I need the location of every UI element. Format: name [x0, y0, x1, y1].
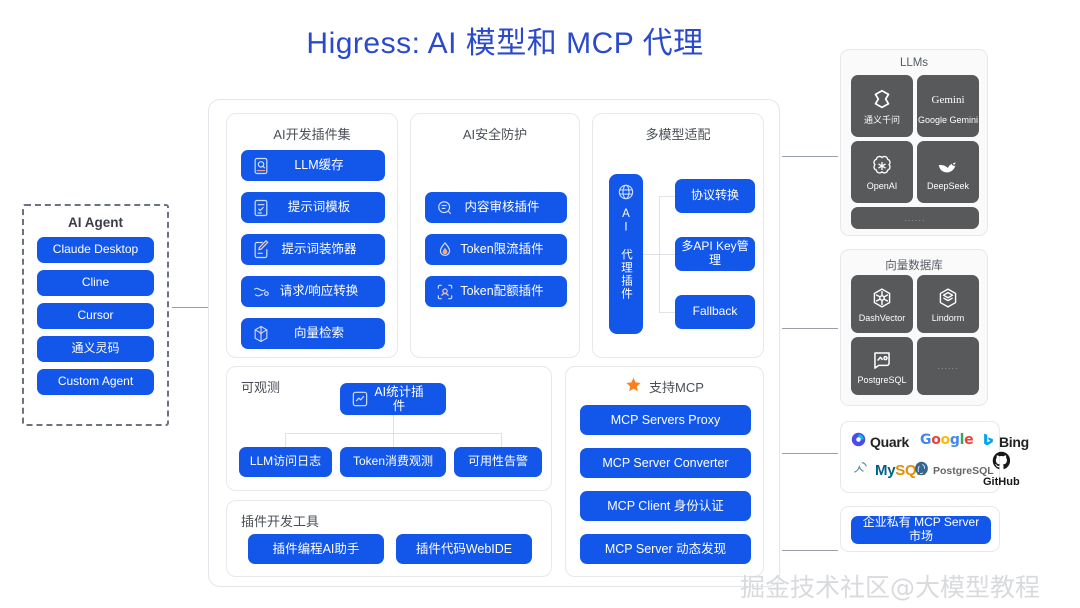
openai-icon — [869, 153, 895, 179]
dev-plugin-prompt-template-label: 提示词模板 — [271, 200, 379, 214]
dev-plugin-vector-search-label: 向量检索 — [271, 326, 379, 340]
multi-model-fallback[interactable]: Fallback — [675, 295, 755, 329]
dev-plugin-prompt-template[interactable]: 提示词模板 — [241, 192, 385, 223]
vector-tile-postgresql[interactable]: PostgreSQL — [851, 337, 913, 395]
logo-quark-label: Quark — [870, 434, 909, 450]
book-search-icon — [251, 156, 271, 176]
security-content-review[interactable]: 内容审核插件 — [425, 192, 567, 223]
security-token-ratelimit[interactable]: Token限流插件 — [425, 234, 567, 265]
watermark: 掘金技术社区@大模型教程 — [740, 568, 1040, 604]
dev-plugins-card: AI开发插件集 LLM缓存 提示词模板 提示词装饰器 请求/响应转换 向量检索 — [226, 113, 398, 358]
dev-plugin-req-resp-transform-label: 请求/响应转换 — [271, 284, 379, 298]
content-review-icon — [435, 198, 455, 218]
logo-bing-label: Bing — [999, 434, 1029, 450]
deepseek-whale-icon — [935, 153, 961, 179]
vector-db-title: 向量数据库 — [841, 257, 987, 273]
observability-token-consumption[interactable]: Token消费观测 — [340, 447, 446, 477]
logo-quark[interactable]: Quark — [850, 431, 909, 453]
mcp-servers-proxy[interactable]: MCP Servers Proxy — [580, 405, 751, 435]
multi-model-card: 多模型适配 AI 代理插件 协议转换 多API Key管理 Fallback — [592, 113, 764, 358]
multi-model-connector-3 — [659, 312, 675, 313]
quark-logo-icon — [850, 431, 867, 453]
mcp-client-auth[interactable]: MCP Client 身份认证 — [580, 491, 751, 521]
observability-ai-stats-plugin-label: AI统计插件 — [370, 385, 440, 414]
mcp-server-discovery[interactable]: MCP Server 动态发现 — [580, 534, 751, 564]
search-and-db-logos-panel: Quark Google Bing MySQL PostgreSQL GitHu… — [840, 421, 1000, 493]
mysql-logo-icon — [850, 458, 872, 483]
chart-line-icon — [350, 389, 370, 409]
vector-tile-postgresql-label: PostgreSQL — [857, 376, 906, 385]
observability-title: 可观测 — [241, 377, 280, 396]
diagram-canvas: Higress: AI 模型和 MCP 代理 AI Agent Claude D… — [0, 0, 1080, 608]
ai-agent-title: AI Agent — [24, 215, 167, 230]
agent-item-custom-agent[interactable]: Custom Agent — [37, 369, 154, 395]
multi-model-title: 多模型适配 — [593, 124, 763, 143]
agent-item-tongyi-lingma[interactable]: 通义灵码 — [37, 336, 154, 362]
dev-plugin-vector-search[interactable]: 向量检索 — [241, 318, 385, 349]
llms-title: LLMs — [841, 57, 987, 69]
dashvector-icon — [869, 285, 895, 311]
decorator-pen-icon — [251, 240, 271, 260]
droplet-icon — [435, 240, 455, 260]
postgresql-icon — [869, 347, 895, 373]
vector-db-panel: 向量数据库 DashVector Lindorm PostgreSQL ....… — [840, 249, 988, 406]
connector-main-to-logos — [782, 453, 838, 454]
dev-plugin-prompt-decorator[interactable]: 提示词装饰器 — [241, 234, 385, 265]
enterprise-mcp-market-button[interactable]: 企业私有 MCP Server 市场 — [851, 516, 991, 544]
llms-panel: LLMs 通义千问 Gemini Google Gemini OpenAI De… — [840, 49, 988, 236]
observability-branch-3 — [501, 433, 502, 447]
mcp-server-converter[interactable]: MCP Server Converter — [580, 448, 751, 478]
llm-tile-gemini-label: Google Gemini — [918, 116, 978, 125]
connector-main-to-vectordb — [782, 328, 838, 329]
security-token-ratelimit-label: Token限流插件 — [455, 242, 561, 256]
google-logo-icon: Google — [920, 432, 973, 448]
logo-google[interactable]: Google — [920, 432, 973, 448]
ai-agent-panel: AI Agent Claude Desktop Cline Cursor 通义灵… — [22, 204, 169, 426]
ai-proxy-plugin-block[interactable]: AI 代理插件 — [609, 174, 643, 334]
multi-model-protocol-conversion[interactable]: 协议转换 — [675, 179, 755, 213]
llm-tile-deepseek[interactable]: DeepSeek — [917, 141, 979, 203]
security-content-review-label: 内容审核插件 — [455, 200, 561, 214]
transform-swap-icon — [251, 282, 271, 302]
mcp-support-card: 支持MCP MCP Servers Proxy MCP Server Conve… — [565, 366, 764, 577]
security-token-quota-label: Token配额插件 — [455, 284, 561, 298]
observability-card: 可观测 AI统计插件 LLM访问日志 Token消费观测 可用性告警 — [226, 366, 552, 491]
connector-main-to-market — [782, 550, 838, 551]
llm-tile-gemini[interactable]: Gemini Google Gemini — [917, 75, 979, 137]
logo-github-label: GitHub — [983, 476, 1020, 488]
connector-agent-to-main — [172, 307, 208, 308]
dev-tools-card: 插件开发工具 插件编程AI助手 插件代码WebIDE — [226, 500, 552, 577]
observability-ai-stats-plugin[interactable]: AI统计插件 — [340, 383, 446, 415]
qwen-icon — [869, 87, 895, 113]
security-token-quota[interactable]: Token配额插件 — [425, 276, 567, 307]
llm-tile-openai[interactable]: OpenAI — [851, 141, 913, 203]
postgresql-logo-icon — [913, 460, 930, 482]
vector-tile-dashvector[interactable]: DashVector — [851, 275, 913, 333]
template-check-icon — [251, 198, 271, 218]
llm-tile-qwen[interactable]: 通义千问 — [851, 75, 913, 137]
vector-tile-more[interactable]: ...... — [917, 337, 979, 395]
connector-main-to-llms — [782, 156, 838, 157]
observability-branch-1 — [285, 433, 286, 447]
dev-tools-title: 插件开发工具 — [241, 511, 319, 530]
lindorm-layers-icon — [935, 285, 961, 311]
security-title: AI安全防护 — [411, 124, 579, 143]
mcp-market-panel: 企业私有 MCP Server 市场 — [840, 506, 1000, 552]
vector-tile-dashvector-label: DashVector — [859, 314, 906, 323]
ai-proxy-plugin-label: AI 代理插件 — [618, 208, 634, 301]
github-logo-icon — [991, 450, 1012, 476]
agent-item-cline[interactable]: Cline — [37, 270, 154, 296]
agent-item-cursor[interactable]: Cursor — [37, 303, 154, 329]
dev-plugin-llm-cache[interactable]: LLM缓存 — [241, 150, 385, 181]
observability-trunk — [393, 415, 394, 433]
star-icon — [625, 376, 642, 396]
vector-tile-lindorm[interactable]: Lindorm — [917, 275, 979, 333]
dev-plugin-prompt-decorator-label: 提示词装饰器 — [271, 242, 379, 256]
globe-icon — [616, 182, 636, 202]
multi-model-api-key-mgmt[interactable]: 多API Key管理 — [675, 237, 755, 271]
logo-github[interactable]: GitHub — [983, 450, 1020, 488]
agent-item-claude-desktop[interactable]: Claude Desktop — [37, 237, 154, 263]
dev-plugin-req-resp-transform[interactable]: 请求/响应转换 — [241, 276, 385, 307]
multi-model-connector-1 — [659, 196, 675, 197]
vector-cube-icon — [251, 324, 271, 344]
mcp-support-header: 支持MCP — [566, 376, 763, 396]
observability-llm-access-log[interactable]: LLM访问日志 — [239, 447, 332, 477]
mcp-support-title: 支持MCP — [649, 377, 704, 396]
dev-tool-webide[interactable]: 插件代码WebIDE — [396, 534, 532, 564]
llm-tile-deepseek-label: DeepSeek — [927, 182, 969, 191]
vector-tile-lindorm-label: Lindorm — [932, 314, 965, 323]
observability-availability-alert[interactable]: 可用性告警 — [454, 447, 542, 477]
multi-model-connector-2 — [643, 254, 675, 255]
gemini-icon: Gemini — [935, 87, 961, 113]
logo-postgresql[interactable]: PostgreSQL — [913, 460, 994, 482]
llm-tile-qwen-label: 通义千问 — [864, 116, 900, 125]
llm-tile-more[interactable]: ...... — [851, 207, 979, 229]
quota-scan-icon — [435, 282, 455, 302]
llm-tile-openai-label: OpenAI — [867, 182, 898, 191]
observability-branch-2 — [393, 433, 394, 447]
dev-plugins-title: AI开发插件集 — [227, 124, 397, 143]
dev-plugin-llm-cache-label: LLM缓存 — [271, 158, 379, 172]
security-card: AI安全防护 内容审核插件 Token限流插件 Token配额插件 — [410, 113, 580, 358]
dev-tool-ai-assistant[interactable]: 插件编程AI助手 — [248, 534, 384, 564]
